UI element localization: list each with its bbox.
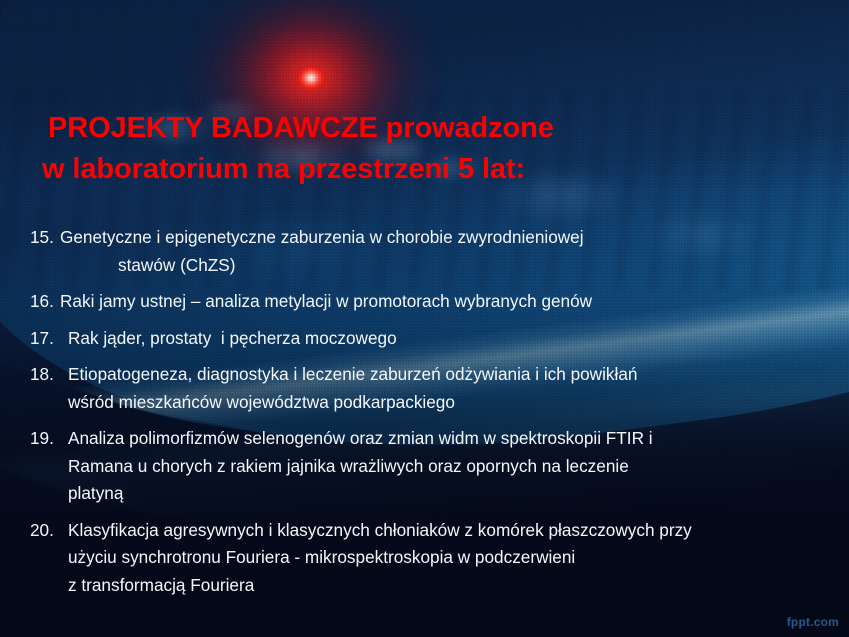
list-item: 19. Analiza polimorfizmów selenogenów or… xyxy=(30,425,830,508)
list-item-number: 17. xyxy=(30,325,68,353)
slide-title: PROJEKTY BADAWCZE prowadzone w laborator… xyxy=(0,108,849,190)
list-item-line: Etiopatogeneza, diagnostyka i leczenie z… xyxy=(68,361,830,389)
list-item-number: 16. xyxy=(30,288,60,316)
list-item: 15. Genetyczne i epigenetyczne zaburzeni… xyxy=(30,224,830,279)
list-item: 18. Etiopatogeneza, diagnostyka i leczen… xyxy=(30,361,830,416)
list-item-number: 15. xyxy=(30,224,60,252)
list-item-text: Rak jąder, prostaty i pęcherza moczowego xyxy=(68,325,830,353)
list-item-text: Analiza polimorfizmów selenogenów oraz z… xyxy=(68,425,830,508)
list-item-line: stawów (ChZS) xyxy=(60,252,830,280)
list-item-line: Rak jąder, prostaty i pęcherza moczowego xyxy=(68,325,830,353)
fppt-watermark: fppt.com xyxy=(787,615,839,629)
list-item-line: Raki jamy ustnej – analiza metylacji w p… xyxy=(60,288,830,316)
list-item-line: Klasyfikacja agresywnych i klasycznych c… xyxy=(68,517,830,545)
list-item: 20. Klasyfikacja agresywnych i klasyczny… xyxy=(30,517,830,600)
list-item-line: Genetyczne i epigenetyczne zaburzenia w … xyxy=(60,224,830,252)
list-item-number: 19. xyxy=(30,425,68,453)
title-line-1: PROJEKTY BADAWCZE prowadzone xyxy=(0,108,849,149)
slide-content: PROJEKTY BADAWCZE prowadzone w laborator… xyxy=(0,0,849,637)
list-item-line: wśród mieszkańców województwa podkarpack… xyxy=(68,389,830,417)
list-item-line: platyną xyxy=(68,480,830,508)
list-item-line: z transformacją Fouriera xyxy=(68,572,830,600)
research-projects-list: 15. Genetyczne i epigenetyczne zaburzeni… xyxy=(30,224,830,608)
list-item-number: 18. xyxy=(30,361,68,389)
list-item-text: Genetyczne i epigenetyczne zaburzenia w … xyxy=(60,224,830,279)
list-item-line: Ramana u chorych z rakiem jajnika wrażli… xyxy=(68,453,830,481)
list-item: 17. Rak jąder, prostaty i pęcherza moczo… xyxy=(30,325,830,353)
list-item-line: Analiza polimorfizmów selenogenów oraz z… xyxy=(68,425,830,453)
list-item-text: Raki jamy ustnej – analiza metylacji w p… xyxy=(60,288,830,316)
list-item-text: Etiopatogeneza, diagnostyka i leczenie z… xyxy=(68,361,830,416)
presentation-slide: PROJEKTY BADAWCZE prowadzone w laborator… xyxy=(0,0,849,637)
list-item-number: 20. xyxy=(30,517,68,545)
list-item-text: Klasyfikacja agresywnych i klasycznych c… xyxy=(68,517,830,600)
list-item: 16. Raki jamy ustnej – analiza metylacji… xyxy=(30,288,830,316)
list-item-line: użyciu synchrotronu Fouriera - mikrospek… xyxy=(68,544,830,572)
title-line-2: w laboratorium na przestrzeni 5 lat: xyxy=(0,149,849,190)
